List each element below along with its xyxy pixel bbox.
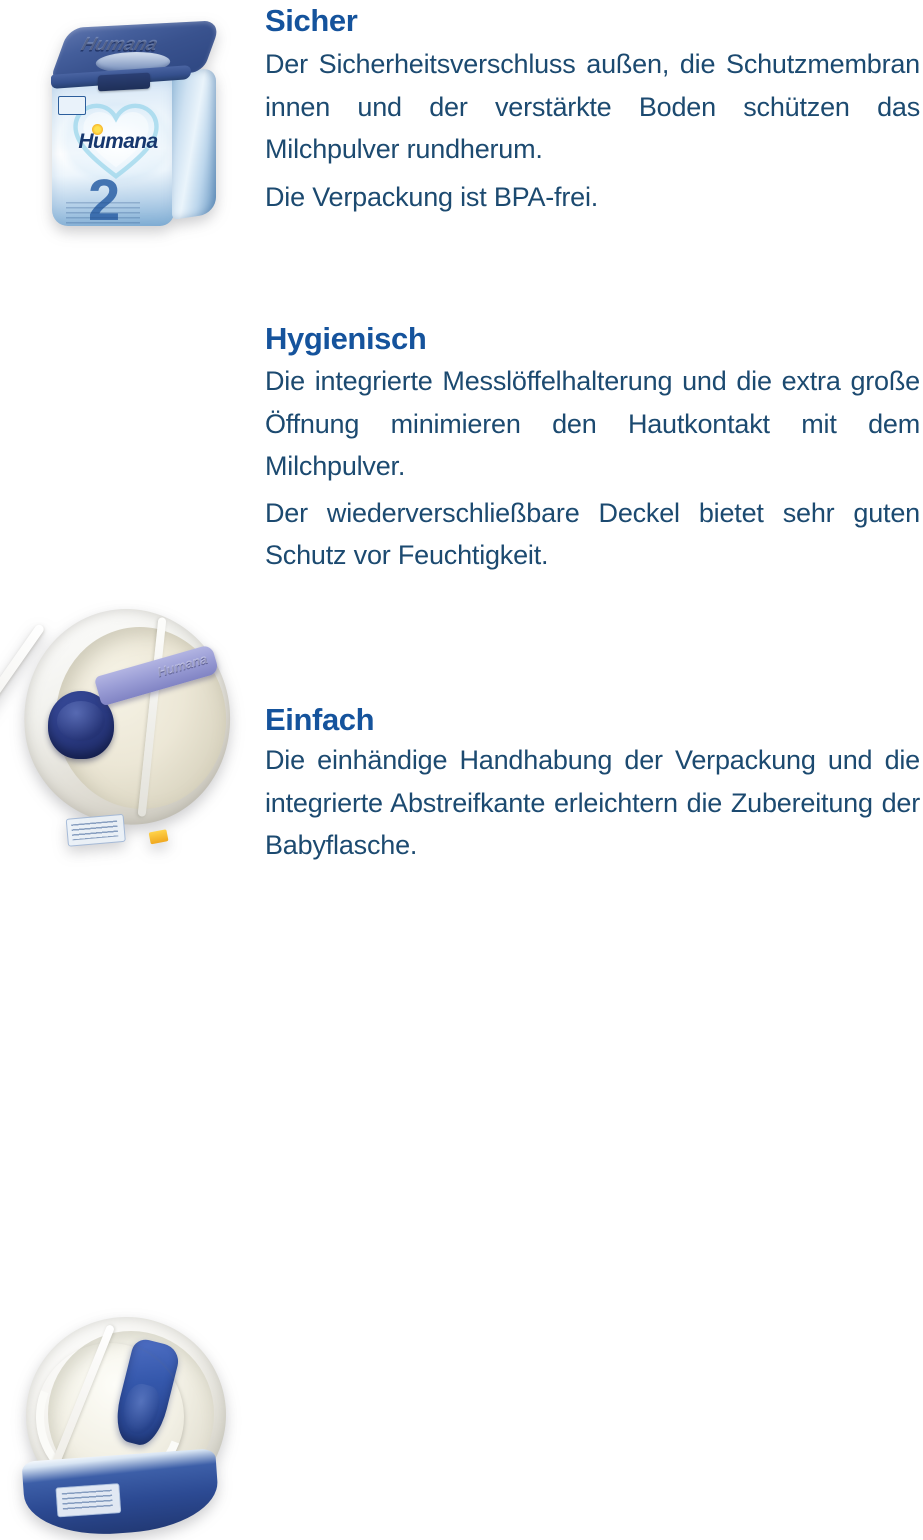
safety-clasp-icon xyxy=(98,73,150,92)
feature-paragraph: Der Sicherheitsverschluss außen, die Sch… xyxy=(265,43,920,171)
feature-block-sicher: Humana 2 Humana Sicher Der Sicherheitsve… xyxy=(0,0,923,250)
feature-text-einfach: Einfach Die einhändige Handhabung der Ve… xyxy=(255,655,923,867)
feature-heading: Einfach xyxy=(265,703,920,737)
feature-text-sicher: Sicher Der Sicherheitsverschluss außen, … xyxy=(255,0,923,218)
feature-text-hygienisch: Hygienisch Die integrierte Messlöffelhal… xyxy=(255,300,923,577)
feature-heading: Sicher xyxy=(265,4,920,38)
feature-paragraph-secondary: Der wiederverschließbare Deckel bietet s… xyxy=(265,492,920,577)
feature-image-sicher: Humana 2 Humana xyxy=(0,0,255,250)
tin-body-front: Humana 2 xyxy=(52,76,174,226)
tin-body-side xyxy=(172,67,216,220)
feature-paragraph: Die integrierte Messlöffelhalterung und … xyxy=(265,360,920,488)
feature-block-einfach: Einfach Die einhändige Handhabung der Ve… xyxy=(0,655,923,880)
tin-lower-body xyxy=(22,1448,221,1539)
label-text-lines xyxy=(62,1490,113,1511)
humana-tin-closed-illustration: Humana 2 Humana xyxy=(38,18,218,230)
pack-microtext xyxy=(66,202,140,224)
feature-paragraph-secondary: Die Verpackung ist BPA-frei. xyxy=(265,176,920,219)
feature-paragraph: Die einhändige Handhabung der Verpackung… xyxy=(265,739,920,867)
feature-heading: Hygienisch xyxy=(265,322,920,356)
brand-wordmark: Humana xyxy=(66,130,170,154)
nutrition-label-patch xyxy=(55,1483,121,1517)
lid-emboss-text: Humana xyxy=(78,34,160,56)
humana-tin-leveling-edge-illustration xyxy=(18,1315,236,1537)
pack-sticker xyxy=(58,96,86,115)
feature-block-hygienisch: Humana Hygienisch Die integrierte Messlö… xyxy=(0,300,923,600)
product-benefits-page: Humana 2 Humana Sicher Der Sicherheitsve… xyxy=(0,0,923,880)
feature-image-einfach xyxy=(0,655,255,880)
feature-image-hygienisch: Humana xyxy=(0,300,255,600)
